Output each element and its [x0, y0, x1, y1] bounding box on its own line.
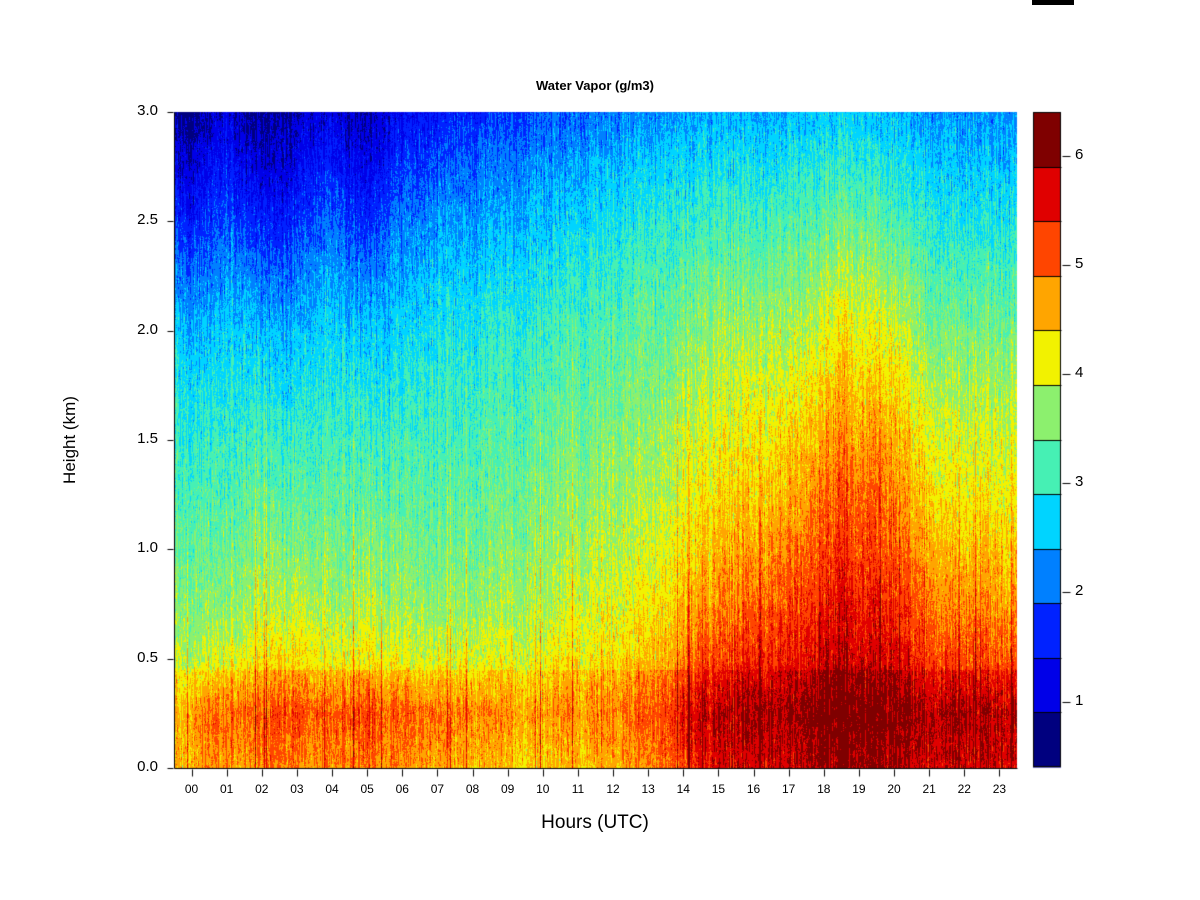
x-tick-label: 09 — [488, 782, 528, 796]
x-tick-label: 21 — [909, 782, 949, 796]
colorbar-tick-label: 4 — [1075, 364, 1105, 381]
x-axis-label: Hours (UTC) — [0, 812, 1190, 834]
x-tick-label: 20 — [874, 782, 914, 796]
corner-artifact-mark — [1032, 0, 1074, 5]
x-tick-label: 19 — [839, 782, 879, 796]
x-tick-label: 16 — [734, 782, 774, 796]
x-tick-label: 11 — [558, 782, 598, 796]
x-tick-label: 17 — [769, 782, 809, 796]
y-tick-label: 2.0 — [112, 321, 158, 338]
x-tick-label: 07 — [417, 782, 457, 796]
y-tick-label: 3.0 — [112, 102, 158, 119]
x-tick-label: 04 — [312, 782, 352, 796]
x-tick-label: 08 — [453, 782, 493, 796]
colorbar-tick-label: 3 — [1075, 473, 1105, 490]
y-tick-label: 1.5 — [112, 430, 158, 447]
colorbar-tick-label: 2 — [1075, 582, 1105, 599]
colorbar-tick-label: 6 — [1075, 146, 1105, 163]
x-tick-label: 18 — [804, 782, 844, 796]
time-height-heatmap-canvas — [0, 0, 1200, 900]
x-tick-label: 00 — [172, 782, 212, 796]
water-vapor-figure: Water Vapor (g/m3) Hours (UTC) Height (k… — [0, 0, 1200, 900]
colorbar-tick-label: 5 — [1075, 255, 1105, 272]
x-tick-label: 14 — [663, 782, 703, 796]
x-tick-label: 01 — [207, 782, 247, 796]
x-tick-label: 02 — [242, 782, 282, 796]
page-title: Water Vapor (g/m3) — [0, 78, 1190, 93]
x-tick-label: 05 — [347, 782, 387, 796]
x-tick-label: 10 — [523, 782, 563, 796]
x-tick-label: 15 — [698, 782, 738, 796]
x-tick-label: 12 — [593, 782, 633, 796]
y-axis-label: Height (km) — [60, 350, 80, 530]
y-tick-label: 0.0 — [112, 758, 158, 775]
x-tick-label: 13 — [628, 782, 668, 796]
y-tick-label: 2.5 — [112, 211, 158, 228]
x-tick-label: 06 — [382, 782, 422, 796]
y-tick-label: 1.0 — [112, 539, 158, 556]
x-tick-label: 23 — [979, 782, 1019, 796]
x-tick-label: 03 — [277, 782, 317, 796]
colorbar-tick-label: 1 — [1075, 692, 1105, 709]
x-tick-label: 22 — [944, 782, 984, 796]
y-tick-label: 0.5 — [112, 649, 158, 666]
